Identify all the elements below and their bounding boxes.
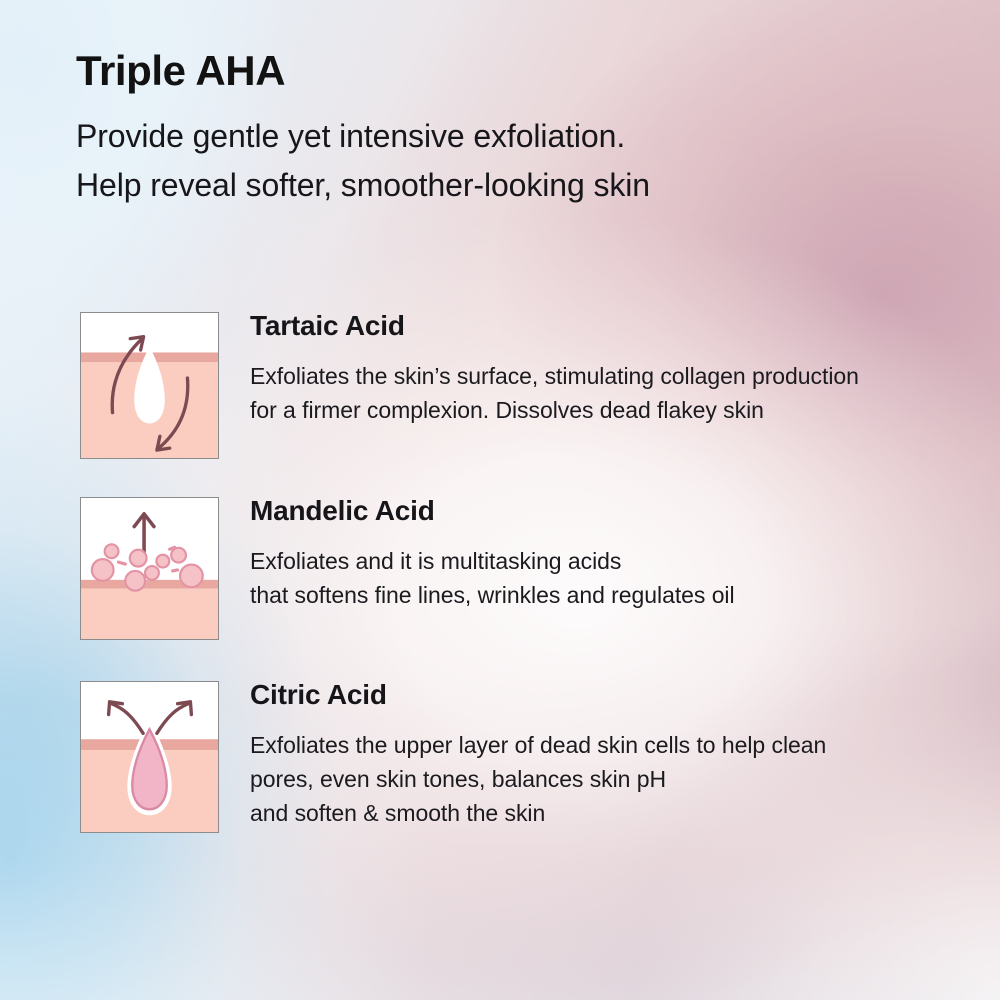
- feature-description-line: Exfoliates the skin’s surface, stimulati…: [250, 359, 859, 393]
- skin-layer-white-droplet-two-curved-arrows-icon: [80, 312, 219, 459]
- feature-title: Tartaic Acid: [250, 312, 859, 340]
- subtitle-line-1: Provide gentle yet intensive exfoliation…: [76, 118, 625, 155]
- infographic-page: Triple AHA Provide gentle yet intensive …: [0, 0, 1000, 1000]
- content-container: Triple AHA Provide gentle yet intensive …: [0, 0, 1000, 1000]
- feature-item-tartaic-acid: Tartaic Acid Exfoliates the skin’s surfa…: [0, 312, 1000, 472]
- skin-layer-dead-cells-up-arrow-icon: [80, 497, 219, 640]
- feature-item-mandelic-acid: Mandelic Acid Exfoliates and it is multi…: [0, 497, 1000, 657]
- feature-text-tartaic-acid: Tartaic Acid Exfoliates the skin’s surfa…: [250, 312, 859, 427]
- feature-description-line: Exfoliates and it is multitasking acids: [250, 544, 735, 578]
- tartaic-acid-illustration: [81, 313, 218, 458]
- feature-text-mandelic-acid: Mandelic Acid Exfoliates and it is multi…: [250, 497, 735, 612]
- feature-text-citric-acid: Citric Acid Exfoliates the upper layer o…: [250, 681, 826, 830]
- feature-description-line: pores, even skin tones, balances skin pH: [250, 762, 826, 796]
- citric-acid-illustration: [81, 682, 218, 832]
- page-title: Triple AHA: [76, 47, 285, 95]
- feature-description-line: for a firmer complexion. Dissolves dead …: [250, 393, 859, 427]
- feature-description-line: that softens fine lines, wrinkles and re…: [250, 578, 735, 612]
- mandelic-acid-illustration: [81, 498, 218, 639]
- feature-description-line: Exfoliates the upper layer of dead skin …: [250, 728, 826, 762]
- skin-layer-pink-droplet-pore-two-arrows-icon: [80, 681, 219, 833]
- feature-title: Citric Acid: [250, 681, 826, 709]
- subtitle-line-2: Help reveal softer, smoother-looking ski…: [76, 167, 650, 204]
- feature-description-line: and soften & smooth the skin: [250, 796, 826, 830]
- feature-title: Mandelic Acid: [250, 497, 735, 525]
- feature-item-citric-acid: Citric Acid Exfoliates the upper layer o…: [0, 681, 1000, 841]
